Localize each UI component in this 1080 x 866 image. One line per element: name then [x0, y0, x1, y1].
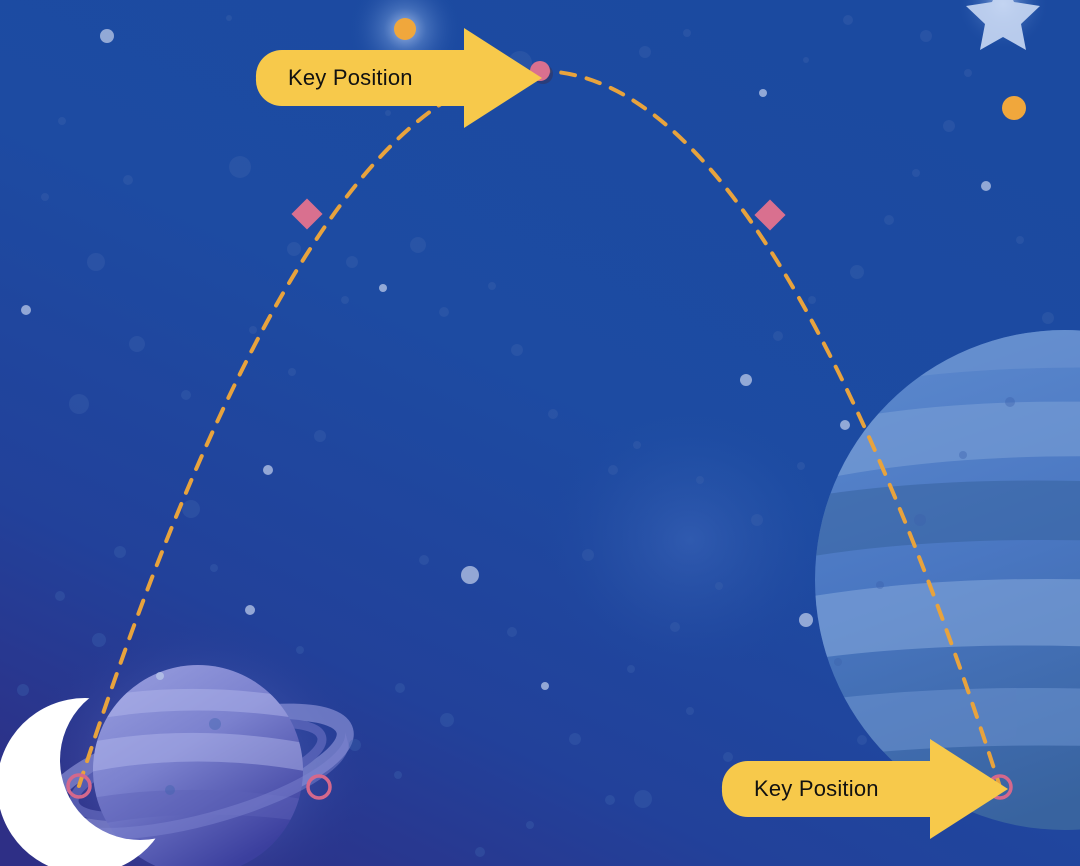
marker-mid-right[interactable]: [754, 199, 785, 230]
space-scene-canvas: Key Position Key Position: [0, 0, 1080, 866]
marker-mid-left[interactable]: [291, 198, 322, 229]
projectile-path: [79, 71, 1000, 787]
arrow-right-icon[interactable]: [244, 24, 544, 132]
callout-key-position-top[interactable]: Key Position: [244, 24, 544, 132]
arrow-right-icon[interactable]: [710, 735, 1010, 843]
marker-spare[interactable]: [308, 776, 330, 798]
callout-key-position-bottom[interactable]: Key Position: [710, 735, 1010, 843]
